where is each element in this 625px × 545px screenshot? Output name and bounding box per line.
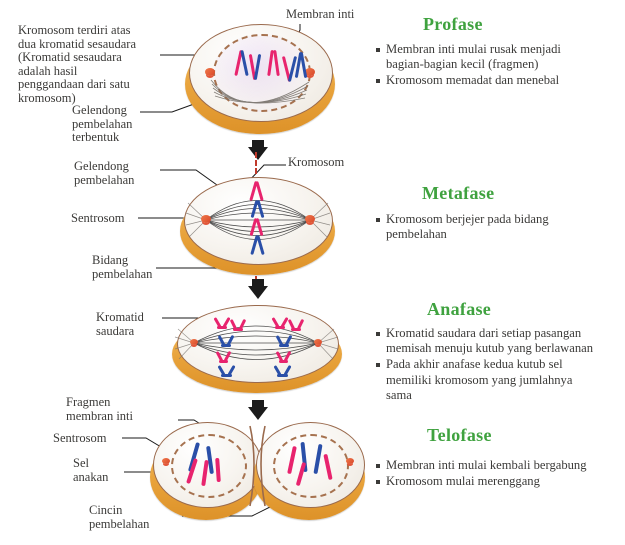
spindle-fibers [172, 303, 342, 398]
centrosome-right [305, 215, 315, 223]
axis-dash-top [255, 152, 257, 174]
cleavage-furrow [150, 420, 365, 525]
centrosome-right [314, 339, 322, 345]
cell-profase [185, 20, 335, 138]
cell-telofase [150, 420, 365, 525]
centrosome-left [201, 215, 211, 223]
mitosis-diagram: Profase Metafase Anafase Telofase Membra… [0, 0, 625, 545]
cell-anafase [172, 303, 342, 398]
centrosome-left [190, 339, 198, 345]
spindle-fibers [185, 20, 335, 138]
centrosome-left [205, 68, 215, 76]
cell-metafase [180, 175, 335, 280]
